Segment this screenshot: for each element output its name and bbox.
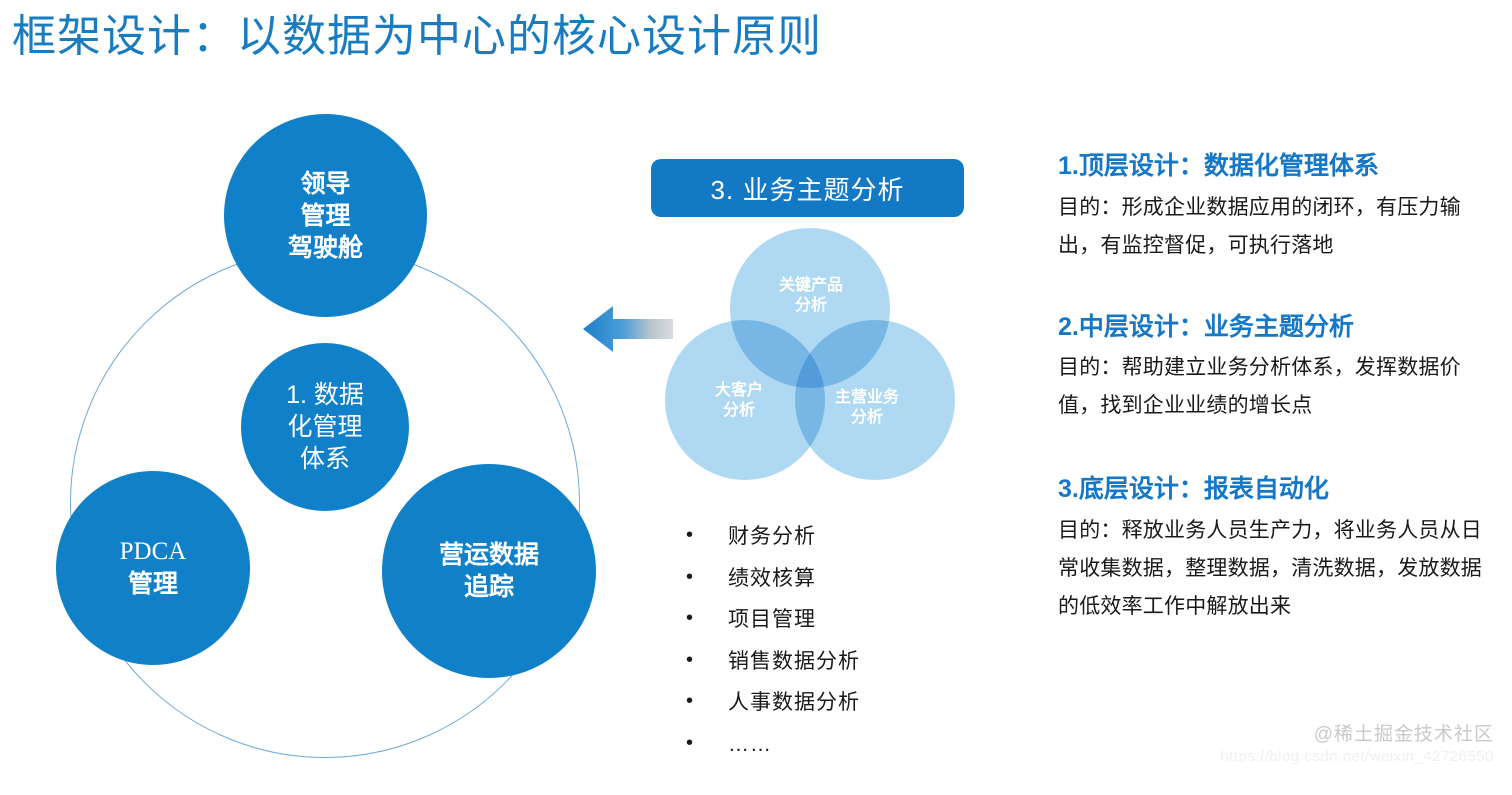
node-leadership-label: 领导 管理 驾驶舱 — [288, 168, 363, 264]
node-pdca-label-group: PDCA 管理 — [120, 536, 187, 601]
list-item: 人事数据分析 — [676, 682, 996, 724]
watermark: @稀土掘金技术社区 https://blog.csdn.net/weixin_4… — [1220, 719, 1494, 765]
section-bottom-level-design: 3.底层设计：报表自动化 目的：释放业务人员生产力，将业务人员从日常收集数据，整… — [1058, 473, 1494, 626]
analysis-bullet-list: 财务分析 绩效核算 项目管理 销售数据分析 人事数据分析 …… — [676, 516, 996, 765]
section-3-body: 目的：释放业务人员生产力，将业务人员从日常收集数据，整理数据，清洗数据，发放数据… — [1058, 512, 1494, 626]
node-leadership[interactable]: 领导 管理 驾驶舱 — [224, 114, 427, 317]
section-2-body: 目的：帮助建立业务分析体系，发挥数据价值，找到企业业绩的增长点 — [1058, 349, 1494, 425]
venn-diagram: 关键产品 分析 大客户 分析 主营业务 分析 — [665, 228, 955, 483]
venn-label-key-product: 关键产品 分析 — [765, 276, 857, 316]
node-data-management-system[interactable]: 1. 数据 化管理 体系 — [241, 343, 409, 511]
right-column: 1.顶层设计：数据化管理体系 目的：形成企业数据应用的闭环，有压力输出，有监控督… — [1058, 150, 1494, 658]
node-pdca-label-cn: 管理 — [120, 568, 187, 601]
node-pdca[interactable]: PDCA 管理 — [56, 471, 250, 665]
venn-label-core-business: 主营业务 分析 — [821, 388, 913, 428]
list-item: 项目管理 — [676, 599, 996, 641]
cycle-diagram: 领导 管理 驾驶舱 1. 数据 化管理 体系 PDCA 管理 营运数据 追踪 2… — [0, 100, 660, 795]
node-pdca-label-en: PDCA — [120, 536, 187, 569]
left-arrow-icon — [583, 303, 673, 355]
node-operations-label: 营运数据 追踪 — [439, 539, 539, 603]
node-center-label: 1. 数据 化管理 体系 — [286, 379, 364, 475]
section-mid-level-design: 2.中层设计：业务主题分析 目的：帮助建立业务分析体系，发挥数据价值，找到企业业… — [1058, 311, 1494, 426]
section-3-heading: 3.底层设计：报表自动化 — [1058, 473, 1494, 506]
section-1-body: 目的：形成企业数据应用的闭环，有压力输出，有监控督促，可执行落地 — [1058, 189, 1494, 265]
list-item: 销售数据分析 — [676, 641, 996, 683]
button-business-theme-analysis[interactable]: 3. 业务主题分析 — [651, 159, 964, 217]
section-1-heading: 1.顶层设计：数据化管理体系 — [1058, 150, 1494, 183]
slide-canvas: 框架设计：以数据为中心的核心设计原则 领导 管理 驾驶舱 1. 数据 化管理 体… — [0, 0, 1512, 795]
list-item: 财务分析 — [676, 516, 996, 558]
section-2-heading: 2.中层设计：业务主题分析 — [1058, 311, 1494, 344]
watermark-url: https://blog.csdn.net/weixin_42726550 — [1220, 748, 1494, 765]
page-title: 框架设计：以数据为中心的核心设计原则 — [12, 8, 822, 66]
list-item: …… — [676, 724, 996, 766]
list-item: 绩效核算 — [676, 558, 996, 600]
node-operations-data-tracking[interactable]: 营运数据 追踪 — [382, 464, 596, 678]
button-business-theme-label: 3. 业务主题分析 — [711, 170, 905, 207]
venn-label-key-account: 大客户 分析 — [693, 381, 785, 421]
section-top-level-design: 1.顶层设计：数据化管理体系 目的：形成企业数据应用的闭环，有压力输出，有监控督… — [1058, 150, 1494, 265]
watermark-name: @稀土掘金技术社区 — [1220, 719, 1494, 746]
